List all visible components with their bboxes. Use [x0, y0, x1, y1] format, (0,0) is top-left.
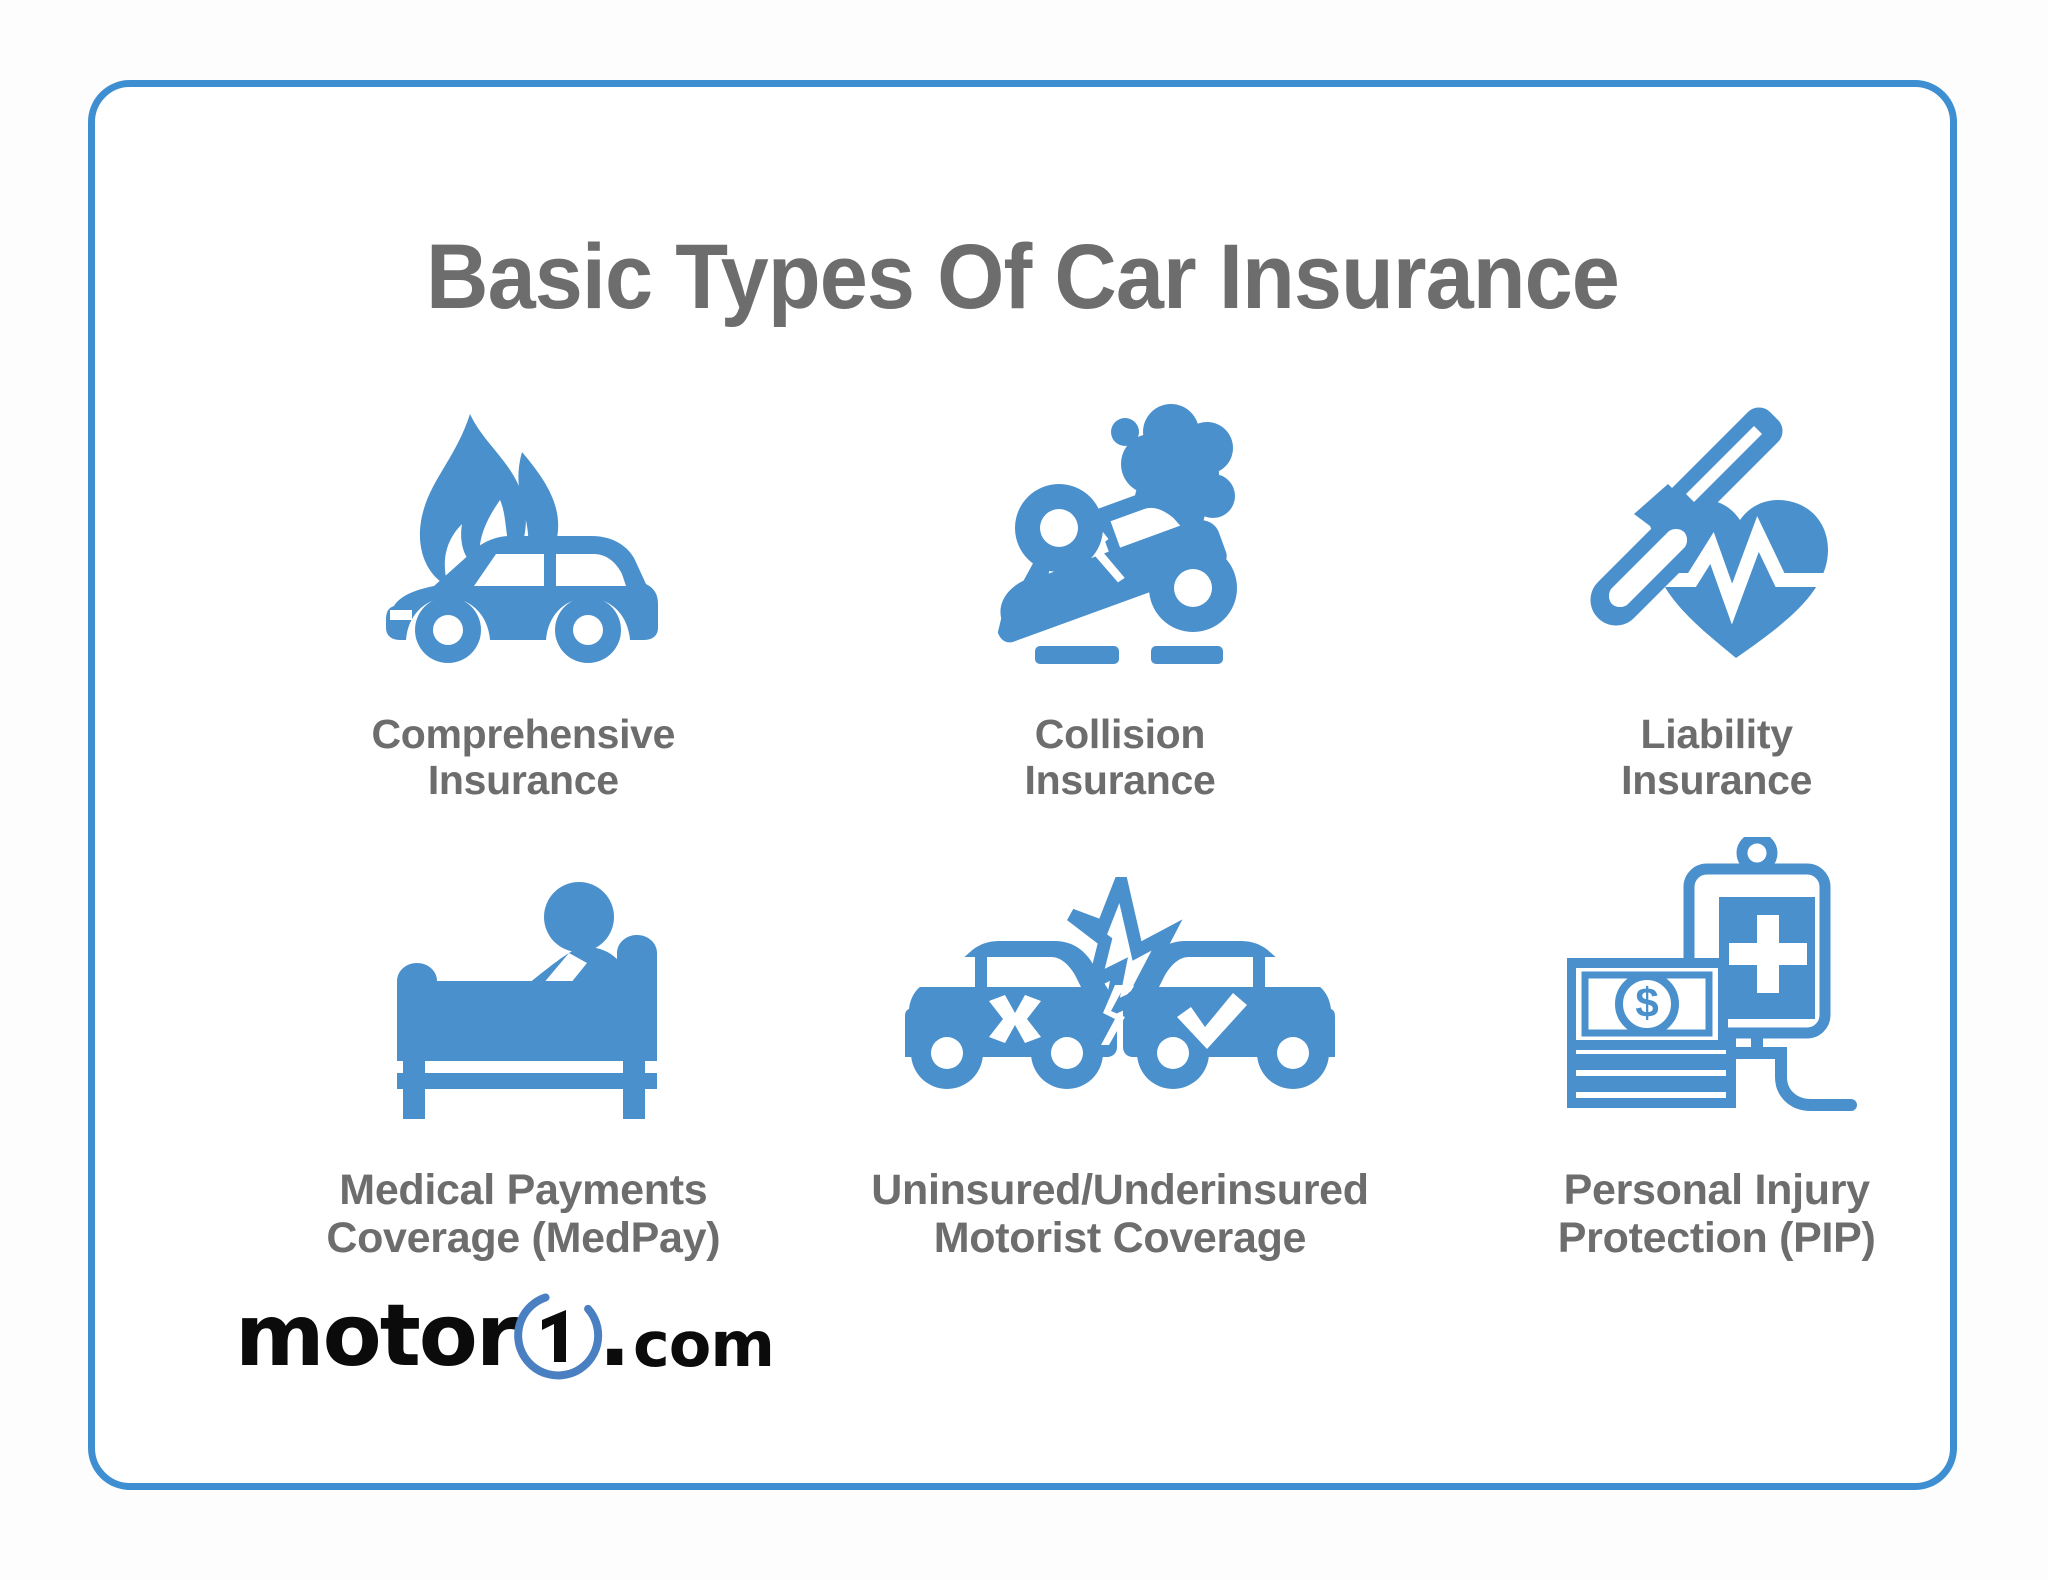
rounded-border-frame: Basic Types Of Car Insurance	[88, 80, 1957, 1490]
coverage-label: Liability Insurance	[1621, 711, 1812, 804]
logo-ring-numeral	[510, 1288, 606, 1384]
coverage-card-liability[interactable]: Liability Insurance	[1418, 377, 2015, 804]
coverage-label: Collision Insurance	[1024, 711, 1215, 804]
logo-wordmark: motor	[235, 1293, 516, 1379]
two-car-head-on-collision-icon	[905, 877, 1335, 1132]
icon-container	[378, 377, 668, 677]
coverage-label: Uninsured/Underinsured Motorist Coverage	[871, 1166, 1369, 1263]
icon-container	[373, 822, 673, 1132]
motor1-logo[interactable]: motor . com	[235, 1281, 774, 1391]
coverage-card-pip[interactable]: $ Personal Injury Protection (PIP)	[1418, 822, 2015, 1263]
coverage-grid: Comprehensive Insurance	[225, 377, 2015, 1263]
overturned-car-smoke-icon	[975, 392, 1265, 677]
burning-car-icon	[378, 392, 668, 677]
screwdriver-heart-ekg-icon	[1572, 392, 1862, 677]
coverage-card-comprehensive[interactable]: Comprehensive Insurance	[225, 377, 822, 804]
icon-container	[975, 377, 1265, 677]
coverage-label: Personal Injury Protection (PIP)	[1558, 1166, 1876, 1263]
coverage-card-uninsured-motorist[interactable]: Uninsured/Underinsured Motorist Coverage	[822, 822, 1419, 1263]
coverage-label: Comprehensive Insurance	[371, 711, 675, 804]
infographic-canvas: Basic Types Of Car Insurance	[0, 0, 2048, 1580]
patient-hospital-bed-icon	[373, 877, 673, 1132]
coverage-label: Medical Payments Coverage (MedPay)	[326, 1166, 720, 1263]
iv-bag-money-icon: $	[1567, 837, 1867, 1132]
svg-text:$: $	[1635, 979, 1658, 1026]
coverage-card-collision[interactable]: Collision Insurance	[822, 377, 1419, 804]
icon-container: $	[1567, 822, 1867, 1132]
logo-tld: com	[633, 1314, 774, 1376]
icon-container	[905, 822, 1335, 1132]
icon-container	[1572, 377, 1862, 677]
page-title: Basic Types Of Car Insurance	[151, 225, 1895, 330]
coverage-card-medpay[interactable]: Medical Payments Coverage (MedPay)	[225, 822, 822, 1263]
